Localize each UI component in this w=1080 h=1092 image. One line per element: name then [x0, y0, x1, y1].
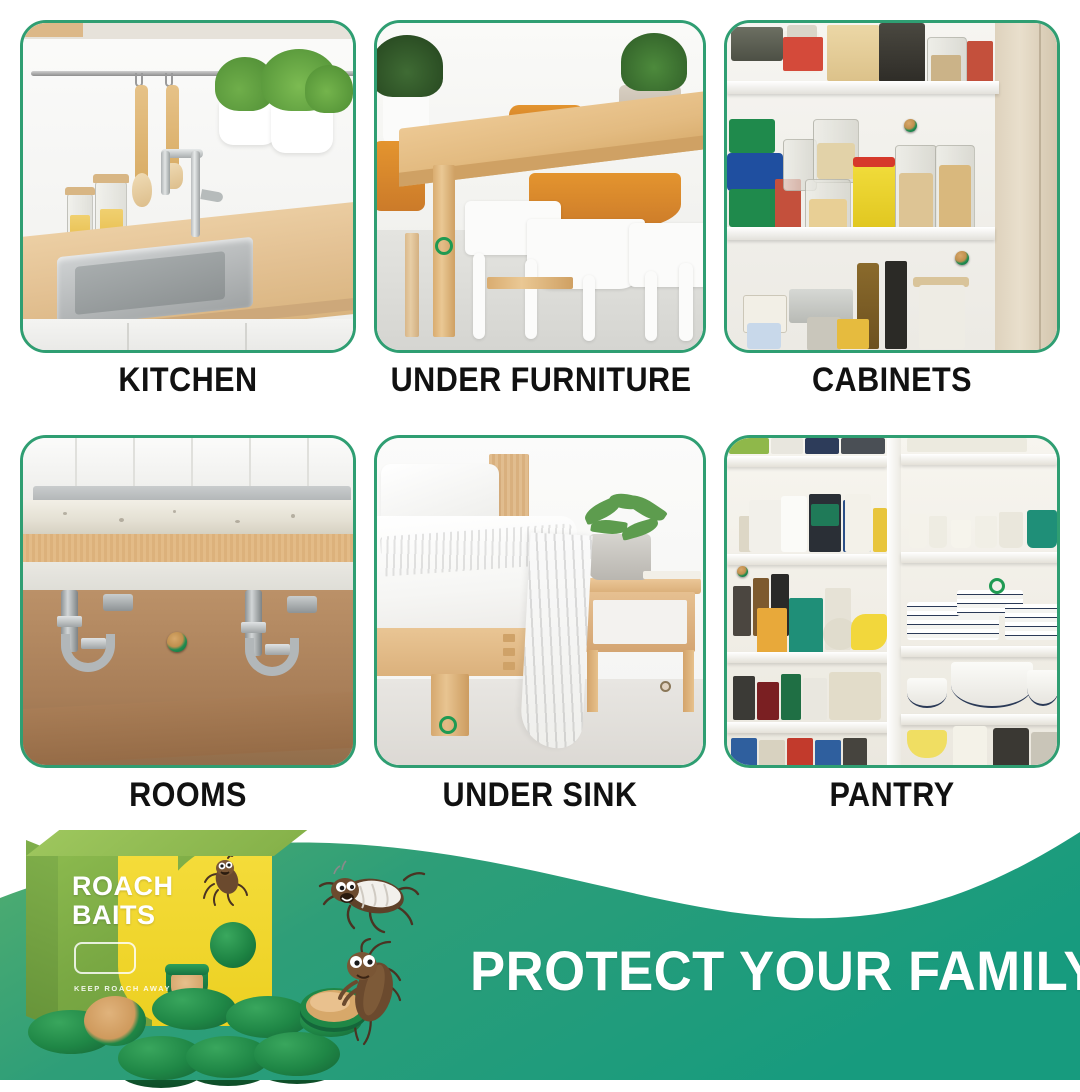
bait-marker: [989, 578, 1005, 594]
bait-marker: [737, 566, 748, 577]
tile-label-kitchen: KITCHEN: [37, 361, 339, 400]
box-placeholder-rect: [74, 942, 136, 974]
placement-tile-grid: KITCHEN: [0, 0, 1080, 830]
scene-bedroom: [377, 438, 703, 765]
tile-pantry[interactable]: PANTRY: [724, 435, 1060, 815]
tile-rooms[interactable]: ROOMS: [20, 435, 356, 815]
tile-cabinets-photo: [724, 20, 1060, 353]
tile-under-furniture-photo: [374, 20, 706, 353]
tile-cabinets[interactable]: CABINETS: [724, 20, 1060, 400]
tile-pantry-photo: [724, 435, 1060, 768]
bait-marker: [955, 251, 969, 265]
box-title-line2: BAITS: [72, 900, 156, 930]
bait-marker: [660, 681, 671, 692]
bait-marker: [167, 632, 187, 652]
roach-eating-bait-icon: [300, 938, 426, 1054]
banner-headline: PROTECT YOUR FAMILY: [470, 938, 1034, 1003]
tile-under-sink[interactable]: UNDER SINK: [374, 435, 706, 815]
tile-under-sink-photo: [374, 435, 706, 768]
bait-marker: [439, 716, 457, 734]
scene-cabinets: [727, 23, 1057, 350]
scene-kitchen: [23, 23, 353, 350]
tile-label-under-sink: UNDER SINK: [391, 776, 690, 815]
tile-kitchen-photo: [20, 20, 356, 353]
bait-disc-open: [84, 996, 146, 1046]
tile-rooms-photo: [20, 435, 356, 768]
tile-under-furniture[interactable]: UNDER FURNITURE: [374, 20, 706, 400]
tile-label-cabinets: CABINETS: [741, 361, 1043, 400]
box-printed-bait-disc: [210, 922, 256, 968]
scene-under-sink-pipes: [23, 438, 353, 765]
bait-marker: [435, 237, 453, 255]
tile-label-rooms: ROOMS: [37, 776, 339, 815]
box-title: ROACHBAITS: [72, 872, 174, 929]
box-top-panel: [26, 830, 307, 856]
scene-pantry: [727, 438, 1057, 765]
tile-kitchen[interactable]: KITCHEN: [20, 20, 356, 400]
roach-running-on-box-icon: [198, 850, 256, 908]
tile-label-under-furniture: UNDER FURNITURE: [391, 361, 690, 400]
scene-under-furniture: [377, 23, 703, 350]
bait-marker: [904, 119, 917, 132]
box-title-line1: ROACH: [72, 871, 174, 901]
box-side-panel: [26, 840, 60, 1030]
tile-label-pantry: PANTRY: [741, 776, 1043, 815]
bait-disc: [152, 988, 236, 1042]
